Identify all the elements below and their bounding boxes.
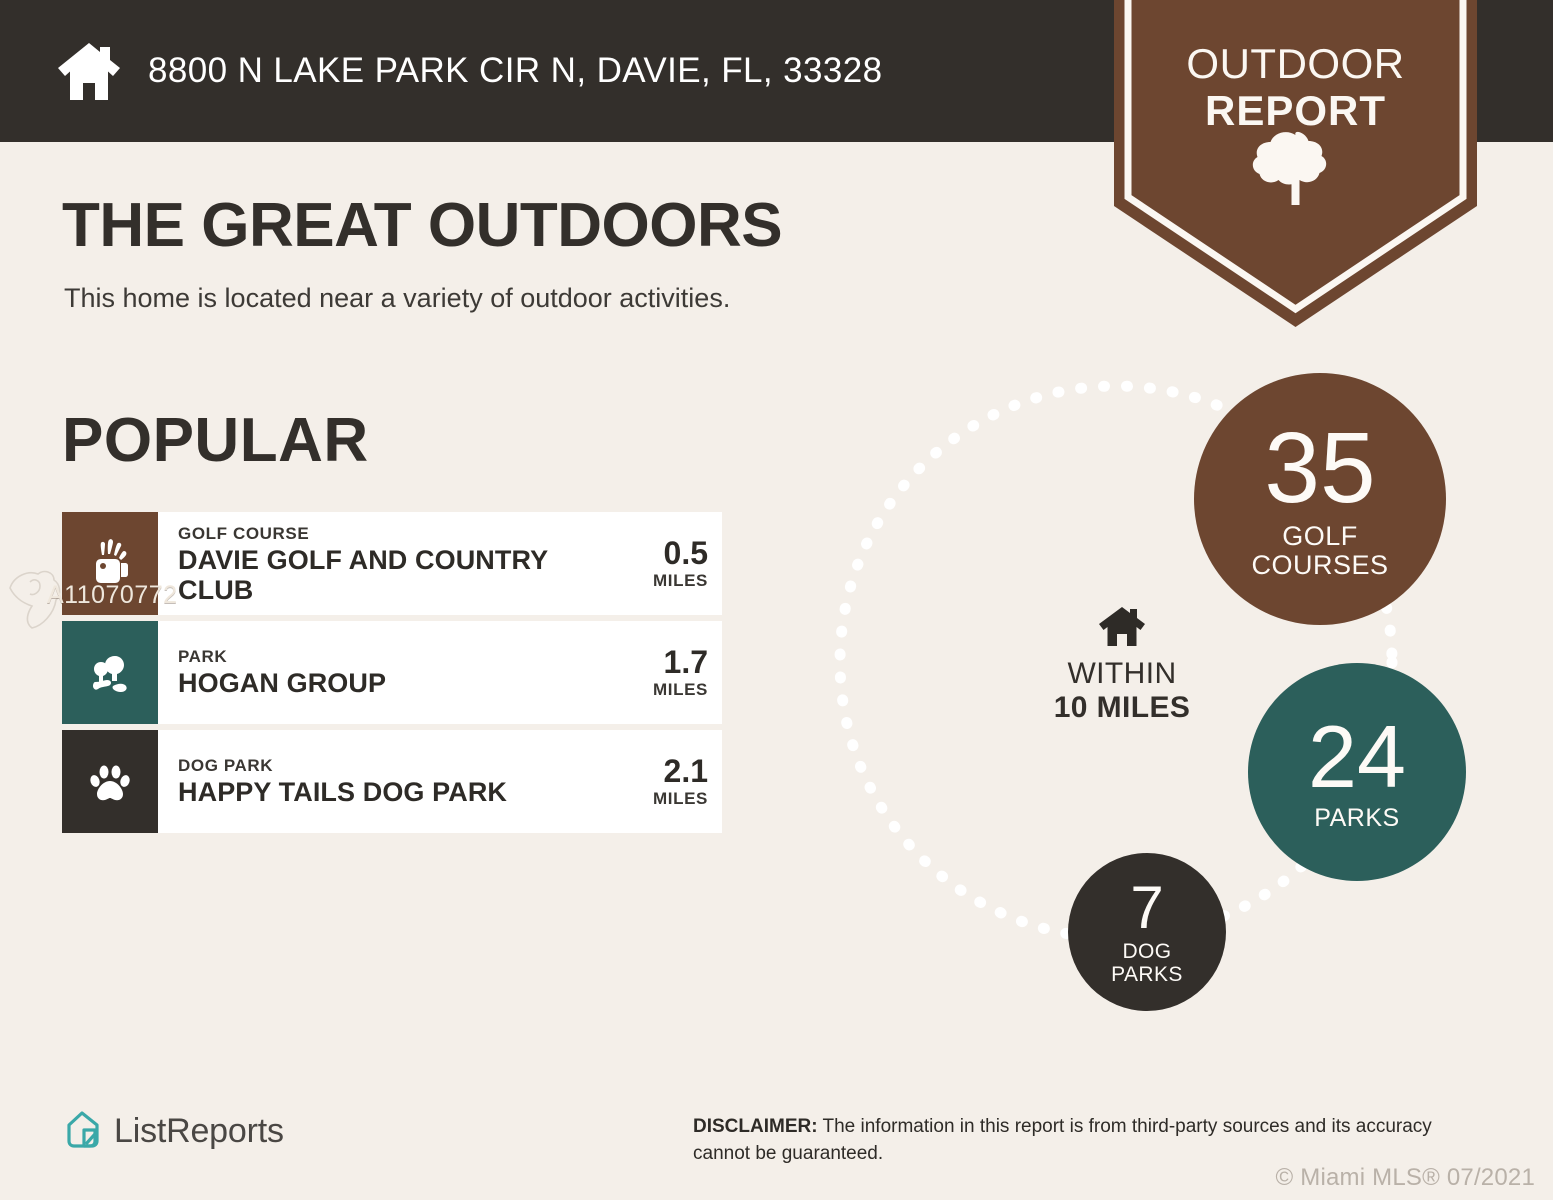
stat-label-line2: PARKS bbox=[1111, 964, 1183, 987]
list-item-text: DOG PARK HAPPY TAILS DOG PARK bbox=[158, 730, 598, 833]
listreports-logo: ListReports bbox=[62, 1110, 284, 1152]
park-trees-icon bbox=[62, 621, 158, 724]
within-line1: WITHIN bbox=[1026, 657, 1218, 691]
badge-text: OUTDOOR REPORT bbox=[1114, 40, 1477, 134]
stat-value: 35 bbox=[1264, 418, 1375, 518]
house-icon bbox=[56, 40, 122, 102]
page-subtitle: This home is located near a variety of o… bbox=[64, 283, 730, 314]
stat-label: GOLF COURSES bbox=[1251, 522, 1388, 580]
list-item-name: DAVIE GOLF AND COUNTRY CLUB bbox=[178, 545, 590, 605]
within-line2: 10 MILES bbox=[1026, 691, 1218, 725]
mls-copyright-watermark: © Miami MLS® 07/2021 bbox=[1276, 1164, 1535, 1192]
stat-circle-dog-parks: 7 DOG PARKS bbox=[1068, 853, 1226, 1011]
list-item-text: GOLF COURSE DAVIE GOLF AND COUNTRY CLUB bbox=[158, 512, 598, 615]
outdoor-report-page: 8800 N LAKE PARK CIR N, DAVIE, FL, 33328… bbox=[0, 0, 1553, 1200]
list-item-name: HOGAN GROUP bbox=[178, 668, 590, 699]
listreports-house-tag-icon bbox=[62, 1110, 102, 1152]
list-item-name: HAPPY TAILS DOG PARK bbox=[178, 777, 590, 808]
list-item-category: PARK bbox=[178, 646, 590, 668]
mls-watermark-graphic bbox=[4, 560, 68, 632]
listreports-wordmark: ListReports bbox=[114, 1112, 284, 1151]
distance-value: 1.7 bbox=[664, 645, 708, 679]
list-item-category: DOG PARK bbox=[178, 755, 590, 777]
disclaimer-label: DISCLAIMER: bbox=[693, 1116, 818, 1137]
stat-label-line2: COURSES bbox=[1251, 551, 1388, 580]
stat-label-line1: DOG bbox=[1111, 941, 1183, 964]
badge-line1: OUTDOOR bbox=[1114, 40, 1477, 87]
stat-circle-parks: 24 PARKS bbox=[1248, 663, 1466, 881]
popular-list: GOLF COURSE DAVIE GOLF AND COUNTRY CLUB … bbox=[62, 512, 722, 839]
stat-circle-golf-courses: 35 GOLF COURSES bbox=[1194, 373, 1446, 625]
list-item-distance: 0.5 MILES bbox=[598, 512, 722, 615]
list-item[interactable]: GOLF COURSE DAVIE GOLF AND COUNTRY CLUB … bbox=[62, 512, 722, 615]
page-title: THE GREAT OUTDOORS bbox=[62, 190, 782, 261]
stat-value: 24 bbox=[1308, 713, 1406, 801]
popular-heading: POPULAR bbox=[62, 405, 369, 476]
stat-value: 7 bbox=[1130, 878, 1163, 938]
stat-label: PARKS bbox=[1314, 805, 1399, 832]
disclaimer: DISCLAIMER: The information in this repo… bbox=[693, 1113, 1483, 1167]
list-item-distance: 2.1 MILES bbox=[598, 730, 722, 833]
stat-label-line1: GOLF bbox=[1251, 522, 1388, 551]
within-radius-label: WITHIN 10 MILES bbox=[1026, 605, 1218, 725]
badge-line2: REPORT bbox=[1114, 87, 1477, 134]
outdoor-report-badge: OUTDOOR REPORT bbox=[1114, 0, 1477, 327]
house-icon bbox=[1026, 605, 1218, 647]
header-content: 8800 N LAKE PARK CIR N, DAVIE, FL, 33328 bbox=[56, 0, 882, 142]
property-address: 8800 N LAKE PARK CIR N, DAVIE, FL, 33328 bbox=[148, 51, 882, 91]
list-item[interactable]: DOG PARK HAPPY TAILS DOG PARK 2.1 MILES bbox=[62, 730, 722, 833]
distance-unit: MILES bbox=[653, 570, 708, 591]
distance-value: 0.5 bbox=[664, 536, 708, 570]
list-item-category: GOLF COURSE bbox=[178, 523, 590, 545]
list-item-text: PARK HOGAN GROUP bbox=[158, 621, 598, 724]
distance-unit: MILES bbox=[653, 788, 708, 809]
list-item-distance: 1.7 MILES bbox=[598, 621, 722, 724]
stat-label: DOG PARKS bbox=[1111, 941, 1183, 986]
distance-value: 2.1 bbox=[664, 754, 708, 788]
golf-bag-icon bbox=[62, 512, 158, 615]
paw-print-icon bbox=[62, 730, 158, 833]
stat-label-line1: PARKS bbox=[1314, 805, 1399, 832]
distance-unit: MILES bbox=[653, 679, 708, 700]
list-item[interactable]: PARK HOGAN GROUP 1.7 MILES bbox=[62, 621, 722, 724]
